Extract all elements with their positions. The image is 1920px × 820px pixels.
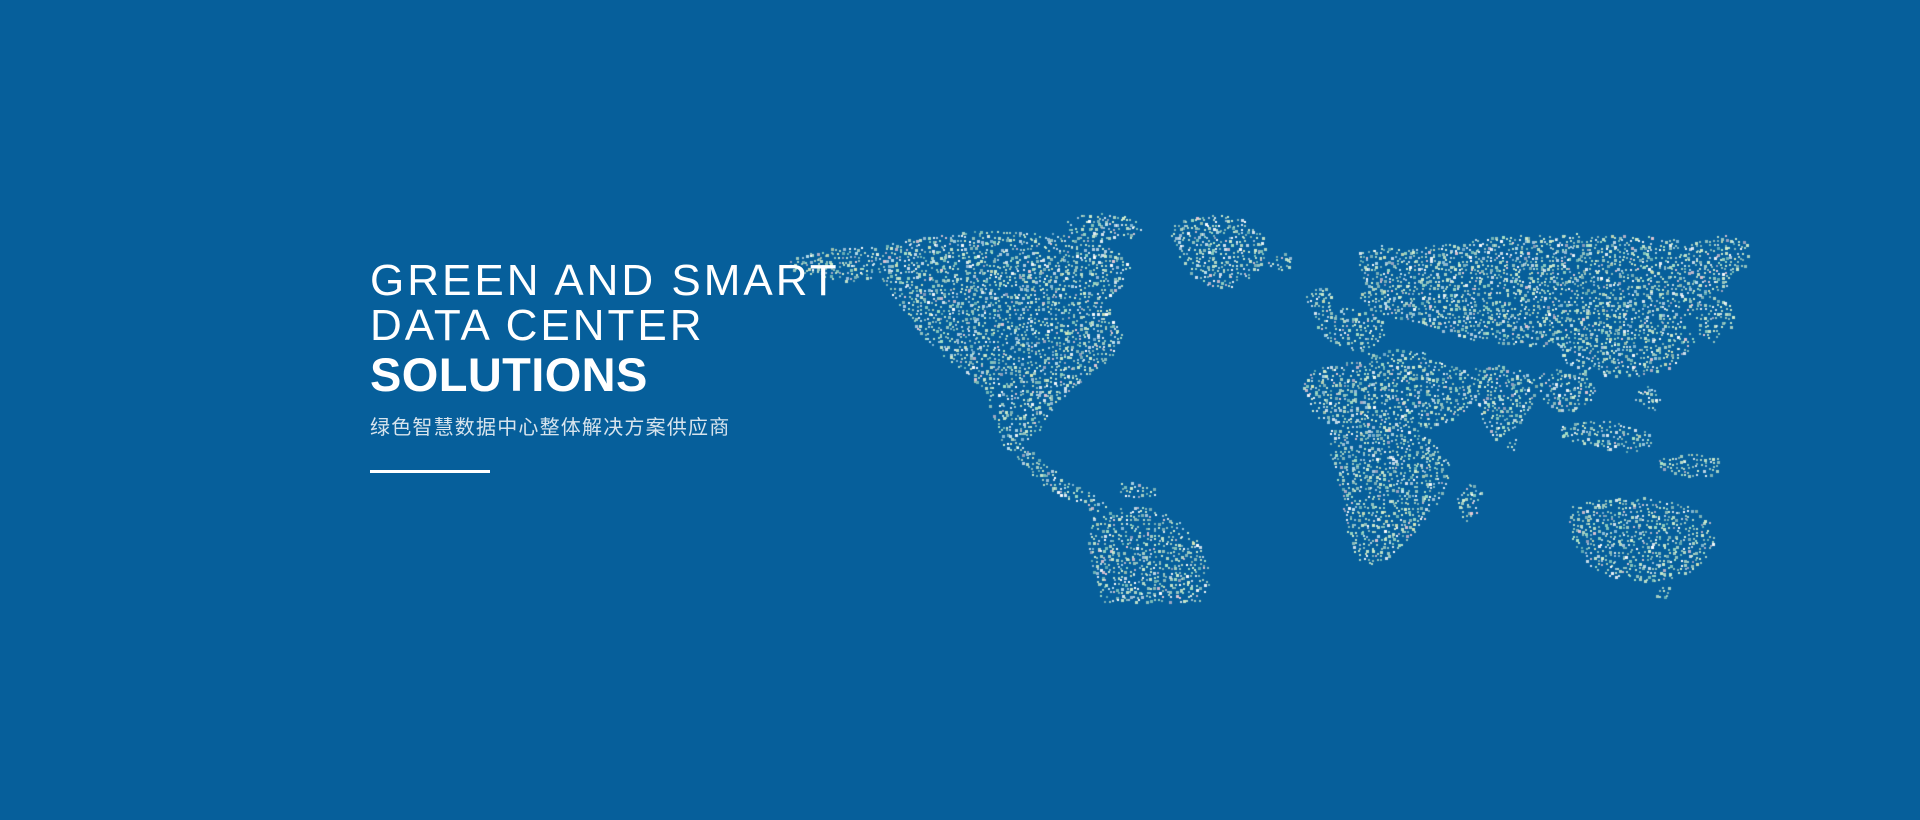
headline-line-1: GREEN AND SMART [370, 258, 1130, 303]
hero-text-block: GREEN AND SMART DATA CENTER SOLUTIONS 绿色… [370, 258, 1130, 473]
hero-subtitle: 绿色智慧数据中心整体解决方案供应商 [370, 414, 1130, 442]
headline-line-2: DATA CENTER [370, 303, 1130, 348]
headline-line-3: SOLUTIONS [370, 349, 1130, 401]
accent-divider [370, 470, 490, 473]
hero-banner: GREEN AND SMART DATA CENTER SOLUTIONS 绿色… [0, 0, 1920, 820]
